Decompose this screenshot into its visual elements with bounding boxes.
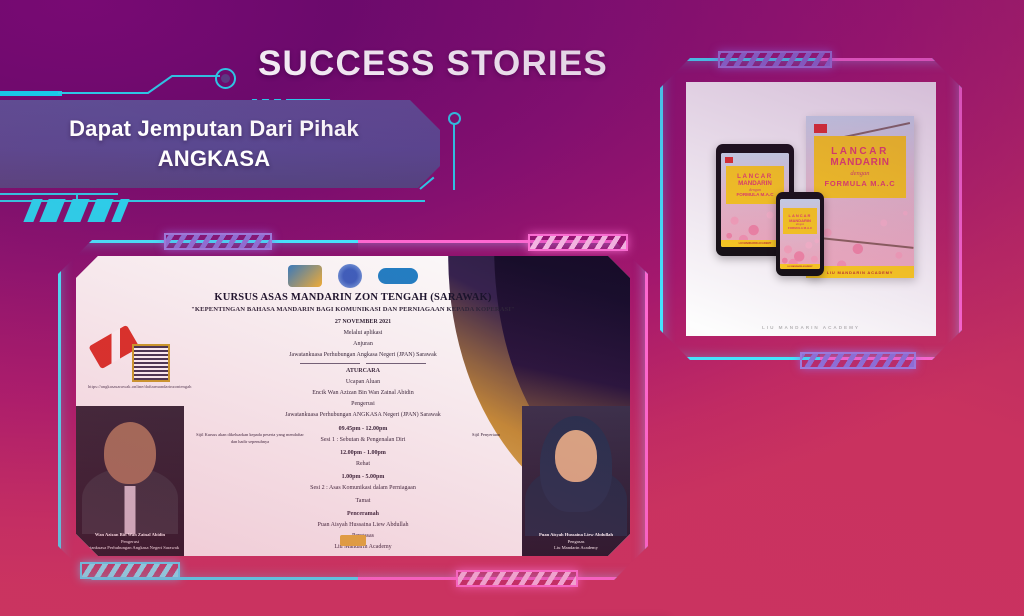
certificate-image: KURSUS ASAS MANDARIN ZON TENGAH (SARAWAK… xyxy=(76,256,630,556)
circuit-node-icon xyxy=(215,68,236,89)
photo-left-name: Wan Azizan Bin Wan Zainal Abidin xyxy=(78,532,182,539)
certificate-speech-role: Pengerusi xyxy=(186,400,540,409)
book-title-1-large: LANCAR xyxy=(831,146,889,157)
mockup-caption-large: LIU MANDARIN ACADEMY xyxy=(686,325,936,330)
coop-logo-icon xyxy=(378,268,418,284)
certificate-agenda-label: ATURCARA xyxy=(186,367,540,376)
angkasa-logo-icon xyxy=(338,264,362,288)
certificate-organizer-label: Anjuran xyxy=(186,340,540,349)
certificate-speech-name: Encik Wan Azizan Bin Wan Zainal Abidin xyxy=(186,389,540,398)
certificate-session2-time: 1.00pm - 5.00pm xyxy=(186,473,540,482)
circuit-ring-icon xyxy=(448,112,461,125)
cyan-rule xyxy=(0,193,118,195)
tablet-subtitle-large: FORMULA M.A.C xyxy=(736,192,773,197)
certificate-heading: KURSUS ASAS MANDARIN ZON TENGAH (SARAWAK… xyxy=(76,292,630,303)
angkasa-50-logo-icon xyxy=(288,265,322,287)
photo-left-org: Jawatankuasa Perhubungan Angkasa Negeri … xyxy=(78,545,182,552)
banner-line-2: ANGKASA xyxy=(158,144,271,174)
certificate-divider xyxy=(186,363,540,364)
cyan-tick xyxy=(76,193,78,206)
poster-canvas: SUCCESS STORIES Dapat Jemputan Dari Piha… xyxy=(0,0,1024,616)
hatch-bottom-right xyxy=(456,570,578,587)
phone-mockup-large: LANCAR MANDARIN dengan FORMULA M.A.C LIU… xyxy=(776,192,824,276)
banner-line-1: Dapat Jemputan Dari Pihak xyxy=(69,114,359,144)
certificate-session2-title: Sesi 2 : Asas Komunikasi dalam Perniagaa… xyxy=(186,484,540,493)
certificate-end-label: Tamat xyxy=(186,497,540,506)
tablet-title-2-large: MANDARIN xyxy=(738,180,772,187)
photo-person-left: Wan Azizan Bin Wan Zainal Abidin Pengeru… xyxy=(76,406,184,556)
certificate-speaker-name: Puan Aisyah Hussaina Liew Abdullah xyxy=(186,521,540,530)
book-title-2-large: MANDARIN xyxy=(830,157,889,168)
certificate-qr-icon xyxy=(132,344,170,382)
product-image: LANCAR MANDARIN dengan FORMULA M.A.C LIU… xyxy=(686,82,936,336)
product-hatch-bottom xyxy=(800,352,916,369)
hatch-top-left xyxy=(164,233,272,250)
certificate-platform-label: Melalui aplikasi xyxy=(186,329,540,338)
certificate-logos xyxy=(288,264,418,288)
product-image-panel: LANCAR MANDARIN dengan FORMULA M.A.C LIU… xyxy=(660,58,962,360)
certificate-speech-label: Ucapan Aluan xyxy=(186,378,540,387)
certificate-url: https://angkasasarawak.online/daftarmand… xyxy=(88,384,191,389)
certificate-subheading: "KEPENTINGAN BAHASA MANDARIN BAGI KOMUNI… xyxy=(76,306,630,313)
certificate-date: 27 NOVEMBER 2021 xyxy=(186,318,540,327)
hatch-top-right xyxy=(528,234,628,251)
tablet-footer-large: LIU MANDARIN ACADEMY xyxy=(739,242,772,245)
hatch-bottom-left xyxy=(80,562,180,579)
phone-subtitle-large: FORMULA M.A.C xyxy=(788,226,812,230)
product-hatch-top xyxy=(718,51,832,68)
page-title: SUCCESS STORIES xyxy=(258,44,608,84)
certificate-speech-org: Jawatankuasa Perhubungan ANGKASA Negeri … xyxy=(186,411,540,420)
photo-left-role: Pengerusi xyxy=(78,539,182,546)
certificate-badge-icon xyxy=(340,535,366,546)
book-mockup-large: LANCAR MANDARIN dengan FORMULA M.A.C LIU… xyxy=(686,82,936,336)
photo-person-right: Puan Aisyah Hussaina Liew Abdullah Penga… xyxy=(522,406,630,556)
photo-right-caption: Puan Aisyah Hussaina Liew Abdullah Penga… xyxy=(524,532,628,552)
tablet-title-1-large: LANCAR xyxy=(737,173,773,180)
photo-right-role: Pengasas xyxy=(524,539,628,546)
certificate-break-label: Rehat xyxy=(186,460,540,469)
main-image-panel: KURSUS ASAS MANDARIN ZON TENGAH (SARAWAK… xyxy=(58,240,648,580)
book-subtitle-large: FORMULA M.A.C xyxy=(825,179,896,188)
certificate-note-left: Sijil Kursus akan dikeluarkan kepada pes… xyxy=(194,432,306,445)
book-footer-large: LIU MANDARIN ACADEMY xyxy=(827,270,894,275)
certificate-canvas: KURSUS ASAS MANDARIN ZON TENGAH (SARAWAK… xyxy=(76,256,630,556)
subtitle-banner-text: Dapat Jemputan Dari Pihak ANGKASA xyxy=(0,100,440,188)
phone-footer-large: LIU MANDARIN ACADEMY xyxy=(787,266,812,268)
photo-right-org: Liu Mandarin Academy xyxy=(524,545,628,552)
book-script-large: dengan xyxy=(850,170,869,177)
certificate-break-time: 12.00pm - 1.00pm xyxy=(186,449,540,458)
photo-right-name: Puan Aisyah Hussaina Liew Abdullah xyxy=(524,532,628,539)
certificate-speaker-label: Penceramah xyxy=(186,510,540,519)
certificate-organizer: Jawatankuasa Perhubungan Angkasa Negeri … xyxy=(186,351,540,360)
photo-left-caption: Wan Azizan Bin Wan Zainal Abidin Pengeru… xyxy=(78,532,182,552)
